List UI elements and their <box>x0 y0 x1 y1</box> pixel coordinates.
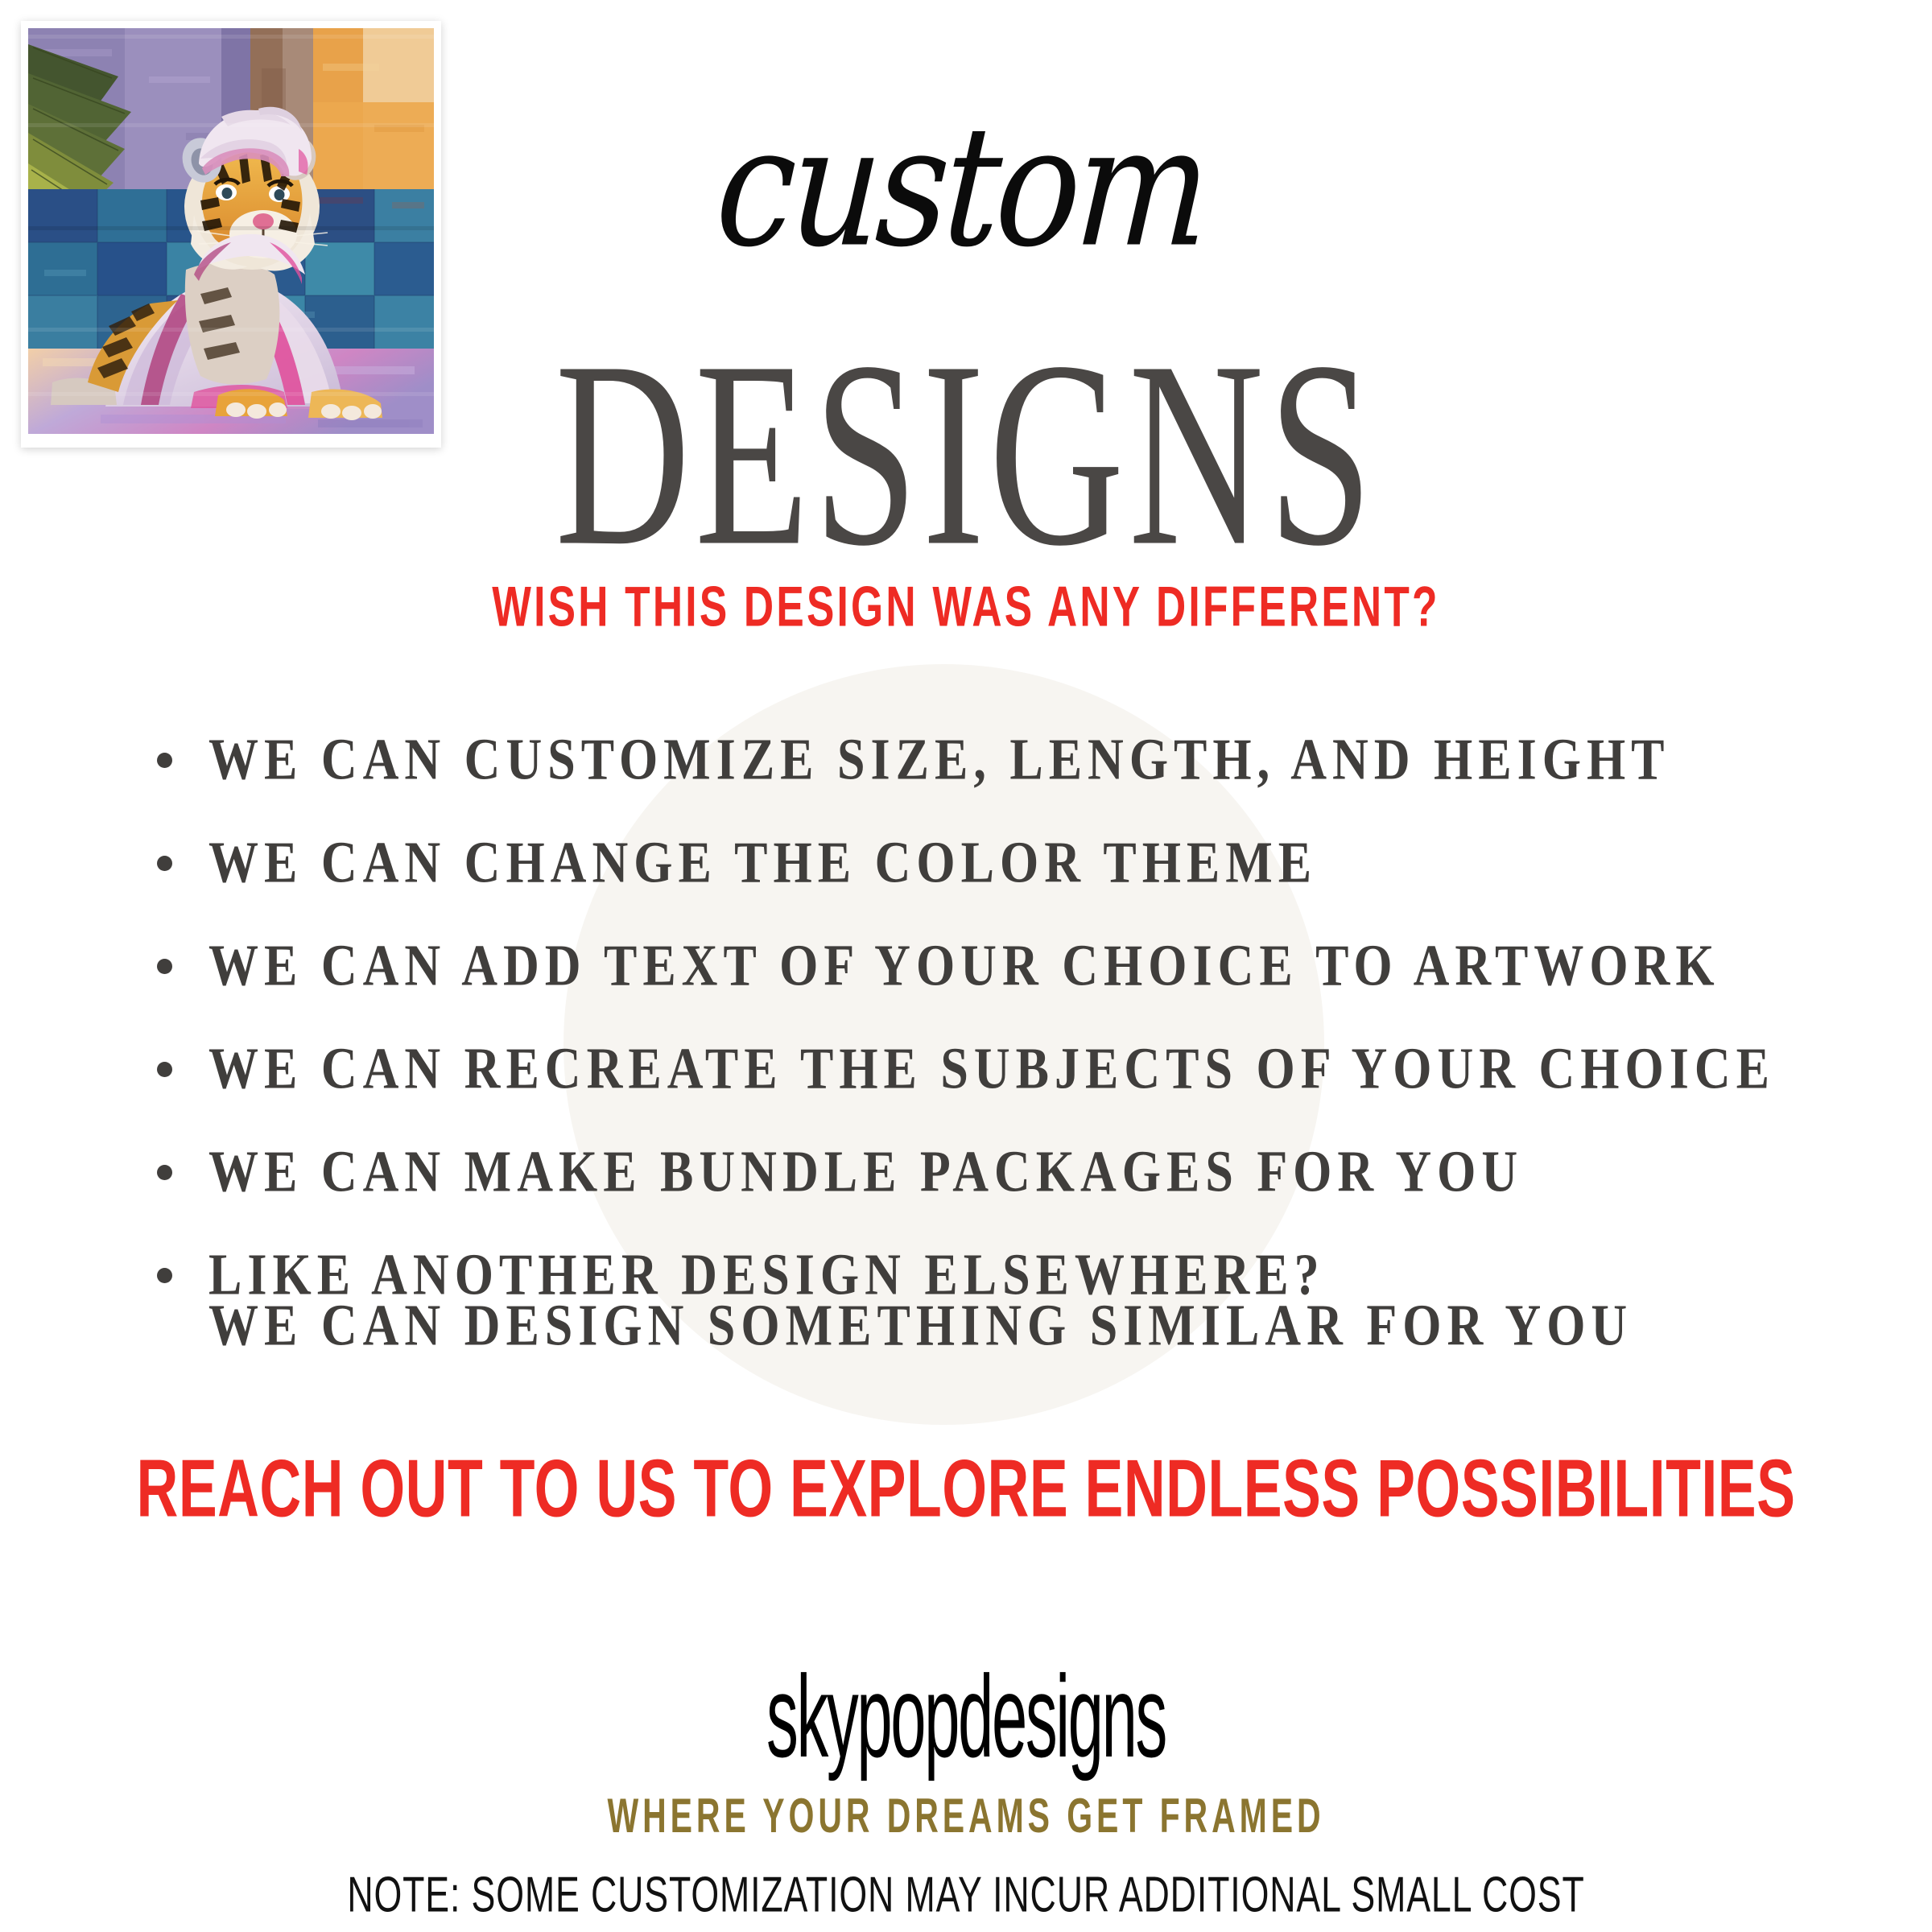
benefit-label: WE CAN RECREATE THE SUBJECTS OF YOUR CHO… <box>208 1035 1775 1103</box>
benefit-label: WE CAN CUSTOMIZE SIZE, LENGTH, AND HEIGH… <box>208 726 1670 794</box>
artwork-thumbnail-card[interactable] <box>21 21 441 448</box>
benefit-continuation-label: WE CAN DESIGN SOMETHING SIMILAR FOR YOU <box>208 1293 1633 1360</box>
benefits-list: WE CAN CUSTOMIZE SIZE, LENGTH, AND HEIGH… <box>157 708 1807 1327</box>
bullet-dot-icon <box>157 1268 172 1283</box>
bullet-dot-icon <box>157 856 172 871</box>
benefit-label: WE CAN ADD TEXT OF YOUR CHOICE TO ARTWOR… <box>208 932 1720 1000</box>
tiger-painting-illustration <box>28 28 434 434</box>
artwork-image <box>28 28 434 434</box>
list-item: WE CAN CUSTOMIZE SIZE, LENGTH, AND HEIGH… <box>157 708 1807 811</box>
brand-tagline: WHERE YOUR DREAMS GET FRAMED <box>174 1788 1758 1844</box>
bullet-dot-icon <box>157 1062 172 1077</box>
list-item: WE CAN CHANGE THE COLOR THEME <box>157 811 1807 914</box>
subtitle-question: WISH THIS DESIGN WAS ANY DIFFERENT? <box>77 573 1855 639</box>
bullet-dot-icon <box>157 959 172 974</box>
footer-note: NOTE: SOME CUSTOMIZATION MAY INCUR ADDIT… <box>135 1866 1797 1924</box>
list-item: WE CAN MAKE BUNDLE PACKAGES FOR YOU <box>157 1121 1807 1224</box>
benefit-label: WE CAN MAKE BUNDLE PACKAGES FOR YOU <box>208 1138 1523 1206</box>
call-to-action-text: REACH OUT TO US TO EXPLORE ENDLESS POSSI… <box>77 1441 1855 1536</box>
benefit-label: WE CAN CHANGE THE COLOR THEME <box>208 829 1317 897</box>
bullet-dot-icon <box>157 753 172 768</box>
brand-wordmark: skypopdesigns <box>213 1650 1719 1784</box>
bullet-dot-icon <box>157 1165 172 1180</box>
list-item: WE CAN RECREATE THE SUBJECTS OF YOUR CHO… <box>157 1018 1807 1121</box>
list-item: WE CAN ADD TEXT OF YOUR CHOICE TO ARTWOR… <box>157 914 1807 1018</box>
